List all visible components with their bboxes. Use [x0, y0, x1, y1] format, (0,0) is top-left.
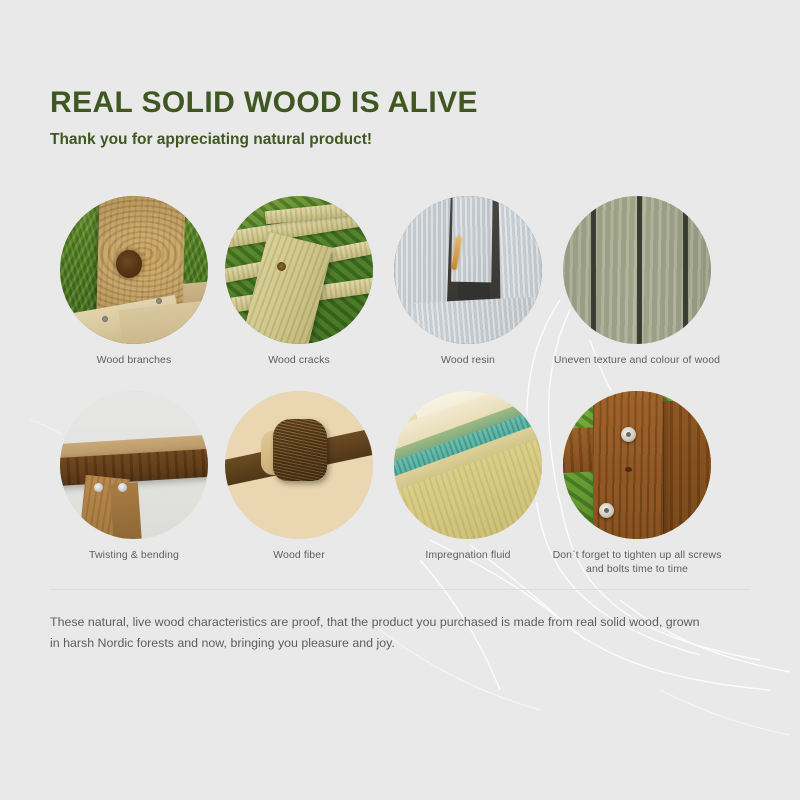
- feature-item-tighten-screws: Don`t forget to tighten up all screws an…: [552, 391, 722, 577]
- feature-image-uneven-texture: [563, 196, 711, 344]
- feature-caption-wood-fiber: Wood fiber: [214, 548, 384, 562]
- feature-item-uneven-texture: Uneven texture and colour of wood: [552, 196, 722, 367]
- feature-row-1: Wood branches Wood cracks: [0, 196, 800, 391]
- feature-image-tighten-screws: [563, 391, 711, 539]
- feature-image-wood-cracks: [225, 196, 373, 344]
- feature-item-wood-branches: Wood branches: [49, 196, 219, 367]
- page-title: REAL SOLID WOOD IS ALIVE: [50, 86, 478, 119]
- feature-caption-impregnation-fluid: Impregnation fluid: [383, 548, 553, 562]
- feature-caption-wood-branches: Wood branches: [49, 353, 219, 367]
- feature-caption-wood-cracks: Wood cracks: [214, 353, 384, 367]
- footer-divider: [50, 589, 750, 590]
- feature-item-wood-cracks: Wood cracks: [214, 196, 384, 367]
- feature-item-impregnation-fluid: Impregnation fluid: [383, 391, 553, 562]
- feature-image-wood-resin: [394, 196, 542, 344]
- feature-image-twisting-bending: [60, 391, 208, 539]
- feature-item-wood-fiber: Wood fiber: [214, 391, 384, 562]
- footer-paragraph: These natural, live wood characteristics…: [50, 612, 710, 653]
- feature-caption-wood-resin: Wood resin: [383, 353, 553, 367]
- feature-row-2: Twisting & bending Wood fiber: [0, 391, 800, 586]
- feature-item-wood-resin: Wood resin: [383, 196, 553, 367]
- feature-item-twisting-bending: Twisting & bending: [49, 391, 219, 562]
- header: REAL SOLID WOOD IS ALIVE Thank you for a…: [50, 86, 478, 148]
- infographic-page: REAL SOLID WOOD IS ALIVE Thank you for a…: [0, 0, 800, 800]
- feature-grid: Wood branches Wood cracks: [0, 196, 800, 586]
- feature-caption-uneven-texture: Uneven texture and colour of wood: [552, 353, 722, 367]
- feature-caption-tighten-screws: Don`t forget to tighten up all screws an…: [552, 548, 722, 577]
- feature-image-wood-fiber: [225, 391, 373, 539]
- feature-image-impregnation-fluid: [394, 391, 542, 539]
- feature-image-wood-branches: [60, 196, 208, 344]
- feature-caption-twisting-bending: Twisting & bending: [49, 548, 219, 562]
- page-subtitle: Thank you for appreciating natural produ…: [50, 131, 478, 148]
